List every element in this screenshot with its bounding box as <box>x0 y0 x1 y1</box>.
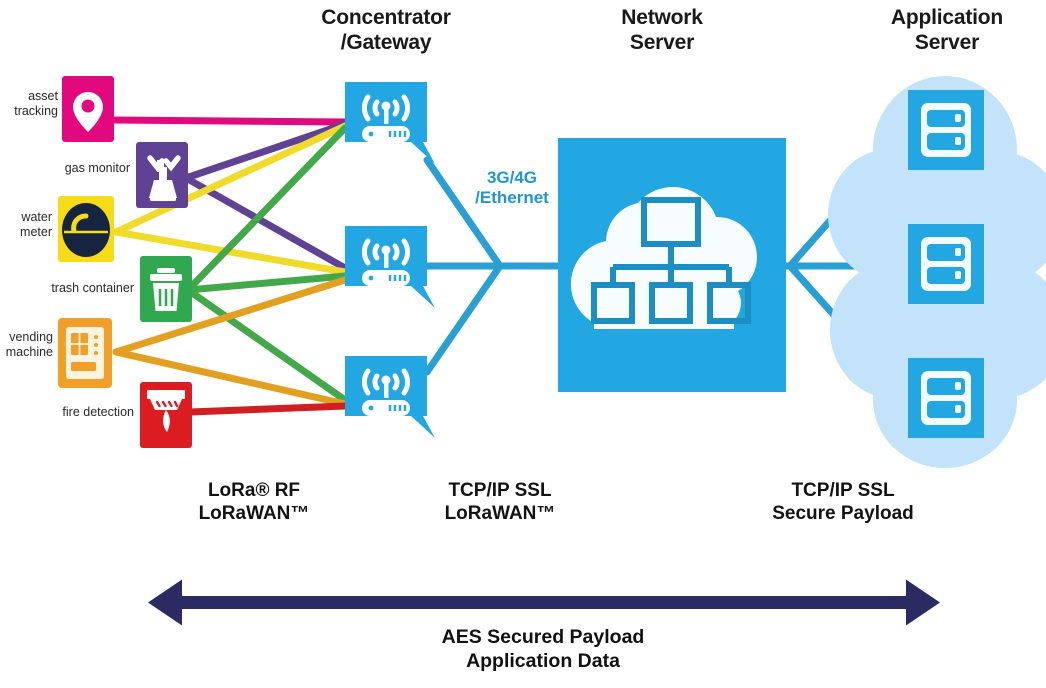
icons-layer <box>0 0 1046 688</box>
aes-span-caption-line1: AES Secured Payload <box>343 626 743 650</box>
backhaul-label-line1: 3G/4G <box>452 168 572 188</box>
protocol-tcpip-secure-line2: Secure Payload <box>738 503 948 526</box>
label-asset-tracking-line2: tracking <box>0 104 58 119</box>
protocol-lora-line1: LoRa® RF <box>150 480 358 503</box>
label-vending-machine: vending machine <box>0 330 53 359</box>
app-server-3[interactable] <box>908 358 984 438</box>
protocol-tcpip-secure-line1: TCP/IP SSL <box>738 480 948 503</box>
aes-span-caption-line2: Application Data <box>343 650 743 674</box>
gateway-2[interactable] <box>345 226 435 308</box>
label-gas-monitor-line1: gas monitor <box>18 161 130 176</box>
label-asset-tracking-line1: asset <box>0 89 58 104</box>
label-vending-machine-line1: vending <box>0 330 53 345</box>
protocol-tcpip-lorawan: TCP/IP SSL LoRaWAN™ <box>396 480 604 526</box>
lorawan-architecture-diagram: Concentrator /Gateway Network Server App… <box>0 0 1046 688</box>
header-concentrator: Concentrator /Gateway <box>286 6 486 56</box>
label-asset-tracking: asset tracking <box>0 89 58 118</box>
label-fire-detection-line1: fire detection <box>10 405 134 420</box>
header-network-server-line2: Server <box>572 31 752 56</box>
protocol-lora: LoRa® RF LoRaWAN™ <box>150 480 358 526</box>
header-application-server-line1: Application <box>856 6 1038 31</box>
device-trash-container[interactable] <box>140 256 192 322</box>
header-application-server: Application Server <box>856 6 1038 56</box>
label-fire-detection: fire detection <box>10 405 134 420</box>
protocol-lora-line2: LoRaWAN™ <box>150 503 358 526</box>
label-gas-monitor: gas monitor <box>18 161 130 176</box>
label-trash-container: trash container <box>8 281 134 296</box>
device-vending-machine[interactable] <box>58 318 112 388</box>
network-server-node[interactable] <box>558 138 786 392</box>
device-gas-monitor[interactable] <box>136 142 188 208</box>
protocol-tcpip-lorawan-line2: LoRaWAN™ <box>396 503 604 526</box>
protocol-tcpip-secure: TCP/IP SSL Secure Payload <box>738 480 948 526</box>
aes-span-caption: AES Secured Payload Application Data <box>343 626 743 674</box>
header-network-server-line1: Network <box>572 6 752 31</box>
label-water-meter-line1: water <box>0 210 52 225</box>
gateway-3[interactable] <box>345 356 435 438</box>
label-trash-container-line1: trash container <box>8 281 134 296</box>
app-server-1[interactable] <box>908 90 984 170</box>
aes-span-arrow <box>148 580 940 626</box>
backhaul-label: 3G/4G /Ethernet <box>452 168 572 208</box>
label-vending-machine-line2: machine <box>0 345 53 360</box>
label-water-meter-line2: meter <box>0 225 52 240</box>
header-concentrator-line1: Concentrator <box>286 6 486 31</box>
protocol-tcpip-lorawan-line1: TCP/IP SSL <box>396 480 604 503</box>
header-network-server: Network Server <box>572 6 752 56</box>
device-water-meter[interactable] <box>58 196 114 262</box>
device-asset-tracking[interactable] <box>62 76 114 142</box>
header-concentrator-line2: /Gateway <box>286 31 486 56</box>
device-fire-detection[interactable] <box>140 382 192 448</box>
app-server-2[interactable] <box>908 224 984 304</box>
backhaul-label-line2: /Ethernet <box>452 188 572 208</box>
gateway-1[interactable] <box>345 82 435 164</box>
header-application-server-line2: Server <box>856 31 1038 56</box>
label-water-meter: water meter <box>0 210 52 239</box>
